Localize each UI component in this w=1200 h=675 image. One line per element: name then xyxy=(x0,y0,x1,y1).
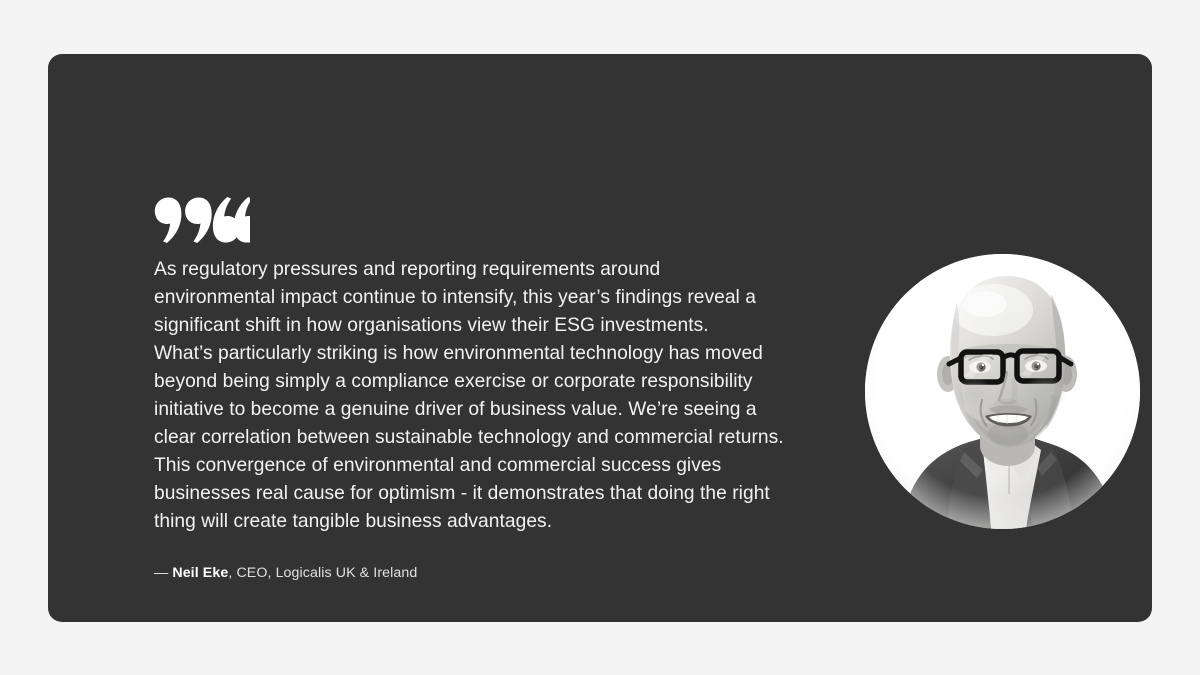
attribution-role: , CEO, Logicalis UK & Ireland xyxy=(228,565,417,581)
testimonial-quote-card: As regulatory pressures and reporting re… xyxy=(48,54,1152,622)
quote-line: significant shift in how organisations v… xyxy=(154,312,854,340)
quote-line: thing will create tangible business adva… xyxy=(154,508,854,536)
quote-line: environmental impact continue to intensi… xyxy=(154,284,854,312)
quote-line: This convergence of environmental and co… xyxy=(154,452,854,480)
quote-text-block: As regulatory pressures and reporting re… xyxy=(154,256,854,536)
attribution-dash: — xyxy=(154,565,172,581)
quote-line: businesses real cause for optimism - it … xyxy=(154,480,854,508)
quote-line: clear correlation between sustainable te… xyxy=(154,424,854,452)
quote-line: What’s particularly striking is how envi… xyxy=(154,340,854,368)
quote-line: initiative to become a genuine driver of… xyxy=(154,396,854,424)
quote-attribution: — Neil Eke, CEO, Logicalis UK & Ireland xyxy=(154,563,417,583)
attribution-name: Neil Eke xyxy=(172,565,228,581)
double-quote-open-close-icon xyxy=(154,197,250,243)
quote-line: beyond being simply a compliance exercis… xyxy=(154,368,854,396)
quote-line: As regulatory pressures and reporting re… xyxy=(154,256,854,284)
slide-canvas: As regulatory pressures and reporting re… xyxy=(0,0,1200,675)
avatar xyxy=(865,254,1140,529)
